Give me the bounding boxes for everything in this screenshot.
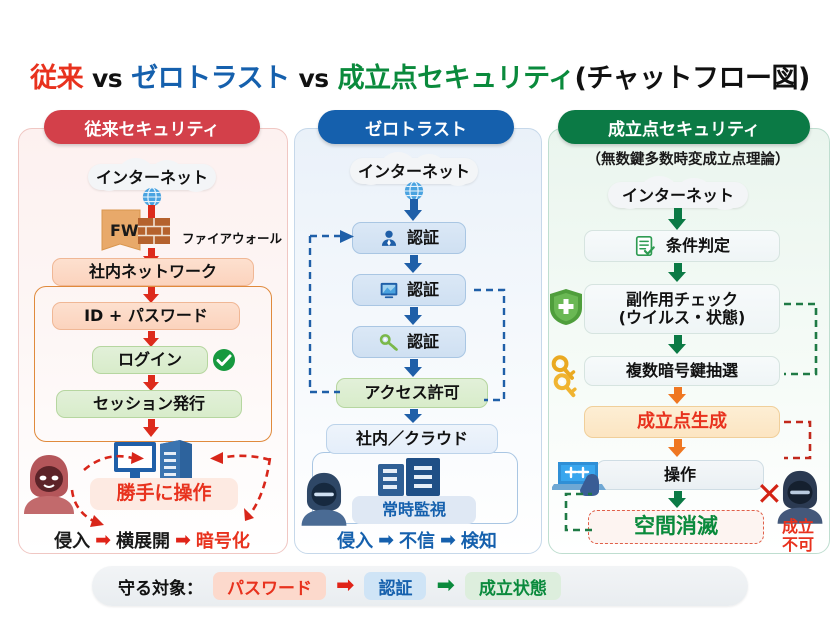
summary-chip-password[interactable]: パスワード bbox=[213, 572, 326, 600]
successpoint-internet-cloud: インターネット bbox=[608, 176, 748, 212]
zerotrust-footer-step-3: 検知 bbox=[461, 527, 497, 553]
banner-unauthorized-operation-label: 勝手に操作 bbox=[116, 483, 211, 505]
title-vs-1: vs bbox=[92, 64, 122, 93]
node-condition-judgement-label: 条件判定 bbox=[666, 237, 730, 255]
traditional-internet-label: インターネット bbox=[96, 164, 208, 188]
summary-chip-established-state[interactable]: 成立状態 bbox=[465, 572, 561, 600]
zerotrust-internet-label: インターネット bbox=[358, 158, 470, 182]
traditional-footer-step-1: 侵入 bbox=[54, 527, 90, 553]
page-title: 従来 vs ゼロトラスト vs 成立点セキュリティ(チャットフロー図) bbox=[0, 56, 840, 95]
summary-arrow-1: ➡ bbox=[336, 575, 354, 597]
firewall-label: ファイアウォール bbox=[182, 228, 282, 247]
blocked-label-line1: 成立 bbox=[782, 517, 814, 536]
blocked-label-line2: 不可 bbox=[782, 535, 814, 554]
node-continuous-monitoring[interactable]: 常時監視 bbox=[352, 496, 476, 524]
node-condition-judgement[interactable]: 条件判定 bbox=[584, 230, 780, 262]
zerotrust-footer-arrow-1: ➡ bbox=[378, 529, 394, 551]
zerotrust-footer: 侵入 ➡ 不信 ➡ 検知 bbox=[294, 526, 540, 554]
successpoint-subcaption: （無数鍵多数時変成立点理論） bbox=[548, 148, 828, 169]
node-id-password[interactable]: ID + パスワード bbox=[52, 302, 240, 330]
zerotrust-footer-step-2: 不信 bbox=[399, 527, 435, 553]
traditional-footer-arrow-2: ➡ bbox=[175, 529, 191, 551]
zerotrust-feedback-paths bbox=[296, 214, 540, 444]
title-vs-2: vs bbox=[298, 64, 328, 93]
zerotrust-footer-step-1: 侵入 bbox=[337, 527, 373, 553]
traditional-footer-arrow-1: ➡ bbox=[95, 529, 111, 551]
title-seg-suffix: (チャットフロー図) bbox=[574, 63, 809, 94]
check-circle-icon bbox=[212, 348, 236, 372]
traditional-footer: 侵入 ➡ 横展開 ➡ 暗号化 bbox=[18, 526, 286, 554]
blocked-cross-icon: ✕ bbox=[756, 478, 783, 510]
traditional-footer-step-2: 横展開 bbox=[116, 527, 170, 553]
traditional-footer-step-3: 暗号化 bbox=[196, 527, 250, 553]
arrow-successpoint-1 bbox=[668, 219, 686, 230]
node-login-label: ログイン bbox=[118, 351, 182, 369]
header-successpoint: 成立点セキュリティ bbox=[558, 110, 810, 144]
node-login[interactable]: ログイン bbox=[92, 346, 208, 374]
server-stack-icon bbox=[378, 458, 440, 500]
node-id-password-label: ID + パスワード bbox=[84, 307, 208, 325]
diagram-canvas: 従来 vs ゼロトラスト vs 成立点セキュリティ(チャットフロー図) 従来セキ… bbox=[0, 0, 840, 630]
hacker-blue-icon bbox=[298, 470, 350, 526]
title-seg-zerotrust: ゼロトラスト bbox=[131, 63, 289, 94]
checklist-icon bbox=[634, 235, 656, 257]
summary-bar-label: 守る対象： bbox=[118, 574, 203, 599]
header-traditional-label: 従来セキュリティ bbox=[85, 115, 220, 140]
title-seg-successpoint: 成立点セキュリティ bbox=[338, 63, 575, 94]
header-zerotrust-label: ゼロトラスト bbox=[365, 115, 467, 140]
header-traditional: 従来セキュリティ bbox=[44, 110, 260, 144]
blocked-label: 成立 不可 bbox=[766, 518, 830, 554]
node-internal-network[interactable]: 社内ネットワーク bbox=[52, 258, 254, 286]
banner-unauthorized-operation: 勝手に操作 bbox=[90, 478, 238, 510]
zerotrust-footer-arrow-2: ➡ bbox=[440, 529, 456, 551]
successpoint-internet-label: インターネット bbox=[622, 182, 734, 206]
firewall-icon: FW bbox=[100, 206, 178, 256]
summary-chip-auth[interactable]: 認証 bbox=[364, 572, 426, 600]
node-continuous-monitoring-label: 常時監視 bbox=[382, 501, 446, 519]
header-zerotrust: ゼロトラスト bbox=[318, 110, 514, 144]
summary-arrow-2: ➡ bbox=[436, 575, 454, 597]
node-session-issue-label: セッション発行 bbox=[93, 395, 205, 413]
title-seg-traditional: 従来 bbox=[30, 63, 83, 94]
node-session-issue[interactable]: セッション発行 bbox=[56, 390, 242, 418]
svg-text:FW: FW bbox=[110, 221, 139, 240]
summary-bar: 守る対象： パスワード ➡ 認証 ➡ 成立状態 bbox=[92, 566, 748, 606]
arrow-successpoint-2 bbox=[668, 272, 686, 282]
header-successpoint-label: 成立点セキュリティ bbox=[608, 115, 760, 140]
node-internal-network-label: 社内ネットワーク bbox=[89, 263, 217, 281]
